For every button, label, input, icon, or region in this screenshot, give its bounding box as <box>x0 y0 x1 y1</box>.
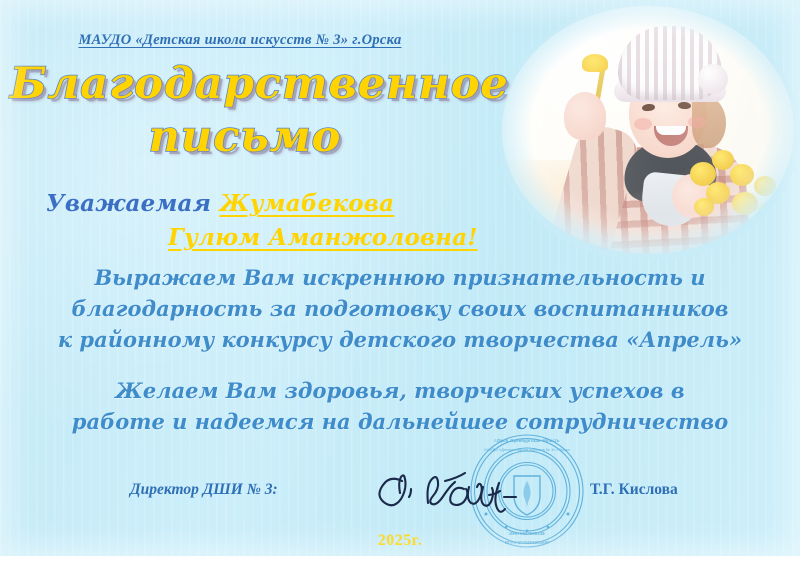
issue-year: 2025г. <box>0 532 800 550</box>
signature-row: Директор ДШИ № 3: Т.Г. Кислова <box>0 481 800 511</box>
photo-bloom <box>754 176 776 196</box>
body-paragraph-2: Желаем Вам здоровья, творческих успехов … <box>30 375 770 437</box>
photo-child-face <box>629 72 707 158</box>
photo-smiling-mouth <box>654 126 688 146</box>
photo-dandelion-bouquet <box>688 148 790 232</box>
photo-edge-blend <box>500 6 796 258</box>
photo-scarf-fold <box>639 171 702 229</box>
photo-vignette <box>502 6 794 254</box>
svg-text:МАУДО «Детская школа искусств: МАУДО «Детская школа искусств № 3» г.Орс… <box>484 447 570 452</box>
photo-hat-brim <box>614 80 726 102</box>
body-line: благодарность за подготовку своих воспит… <box>30 293 770 324</box>
photo-bloom <box>758 202 778 220</box>
recipient-greeting: Уважаемая Жумабекова Гулюм Аманжоловна! <box>46 188 516 254</box>
photo-plaid-coat <box>577 142 751 254</box>
recipient-surname: Жумабекова <box>219 190 394 217</box>
handwritten-signature <box>372 463 542 519</box>
greeting-word: Уважаемая <box>46 190 211 217</box>
photo-bloom <box>732 192 758 215</box>
photo-background-sky <box>502 6 794 254</box>
title-line-1: Благодарственное <box>10 59 509 109</box>
photo-left-cheek <box>634 118 652 130</box>
photo-bloom <box>712 150 734 170</box>
certificate-body: Выражаем Вам искреннюю признательность и… <box>30 262 770 437</box>
organization-name: МАУДО «Детская школа искусств № 3» г.Орс… <box>0 32 480 49</box>
svg-text:г.Орск, Оренбургская область: г.Орск, Оренбургская область <box>494 438 559 443</box>
photo-hand-holding-bouquet <box>672 174 712 218</box>
photo-single-flower-head <box>582 54 608 72</box>
child-with-dandelions-photo <box>500 6 796 258</box>
recipient-given-name: Гулюм Аманжоловна! <box>46 222 516 254</box>
photo-raised-arm <box>548 120 643 254</box>
body-line: Желаем Вам здоровья, творческих успехов … <box>30 375 770 406</box>
body-line: Выражаем Вам искреннюю признательность и <box>30 262 770 293</box>
photo-child-hair <box>692 98 726 148</box>
body-line: к районному конкурсу детского творчества… <box>30 324 770 355</box>
photo-hand-holding-flower <box>564 92 606 140</box>
photo-left-eye <box>642 103 656 111</box>
photo-teeth <box>656 126 686 135</box>
certificate-page: МАУДО «Детская школа искусств № 3» г.Орс… <box>0 0 800 556</box>
director-label: Директор ДШИ № 3: <box>130 481 278 499</box>
photo-bloom <box>706 182 730 204</box>
body-paragraph-1: Выражаем Вам искреннюю признательность и… <box>30 262 770 355</box>
director-name: Т.Г. Кислова <box>590 481 678 499</box>
photo-background-ground <box>502 160 794 254</box>
photo-bloom <box>694 198 714 216</box>
photo-single-flower-stem <box>587 62 607 148</box>
photo-right-cheek <box>688 116 706 128</box>
photo-right-eye <box>678 102 691 110</box>
page-title: Благодарственное письмо <box>10 58 480 164</box>
photo-hat-pompom <box>698 64 728 94</box>
photo-bloom <box>730 164 754 186</box>
photo-bloom <box>690 162 716 186</box>
title-line-2: письмо <box>10 111 480 164</box>
photo-oval-frame <box>502 6 794 254</box>
photo-dark-scarf <box>622 139 718 203</box>
body-line: работе и надеемся на дальнейшее сотрудни… <box>30 406 770 437</box>
photo-knit-hat <box>618 26 722 100</box>
